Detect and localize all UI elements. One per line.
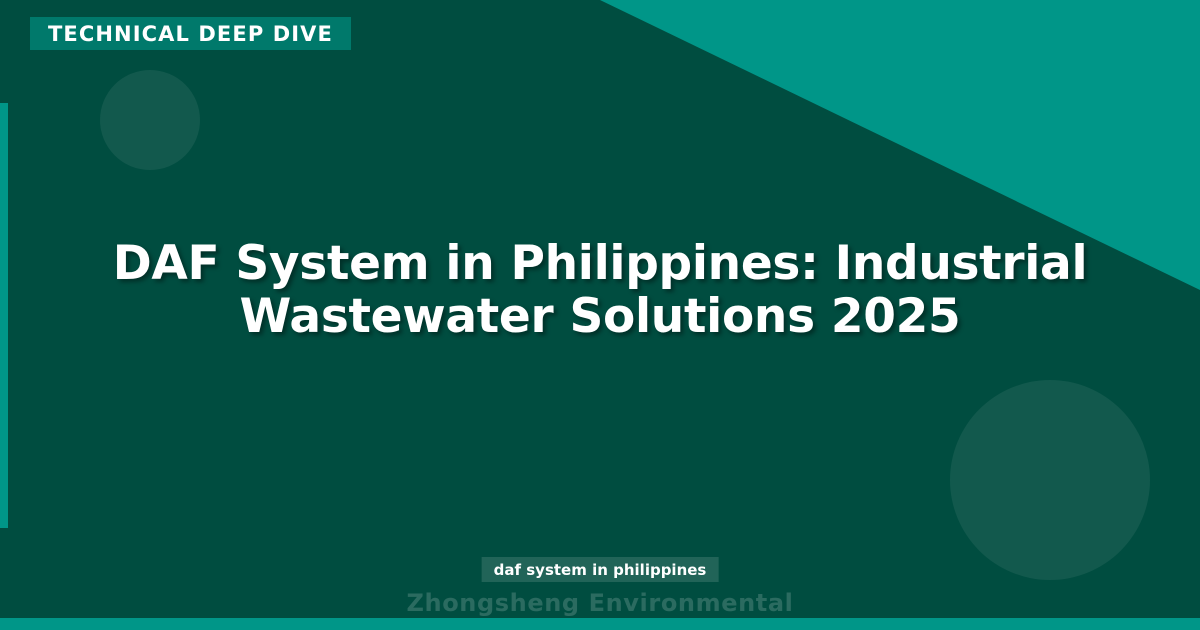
banner-canvas: TECHNICAL DEEP DIVE DAF System in Philip… <box>0 0 1200 630</box>
left-accent-bar <box>0 103 8 528</box>
eyebrow-badge: TECHNICAL DEEP DIVE <box>30 17 351 50</box>
keyword-chip: daf system in philippines <box>482 557 719 582</box>
footer-brand: Zhongsheng Environmental <box>0 589 1200 617</box>
decorative-circle-bottom-right <box>950 380 1150 580</box>
bottom-accent-bar <box>0 618 1200 630</box>
decorative-circle-top-left <box>100 70 200 170</box>
title-block: DAF System in Philippines: Industrial Wa… <box>60 238 1140 343</box>
page-title: DAF System in Philippines: Industrial Wa… <box>60 238 1140 343</box>
